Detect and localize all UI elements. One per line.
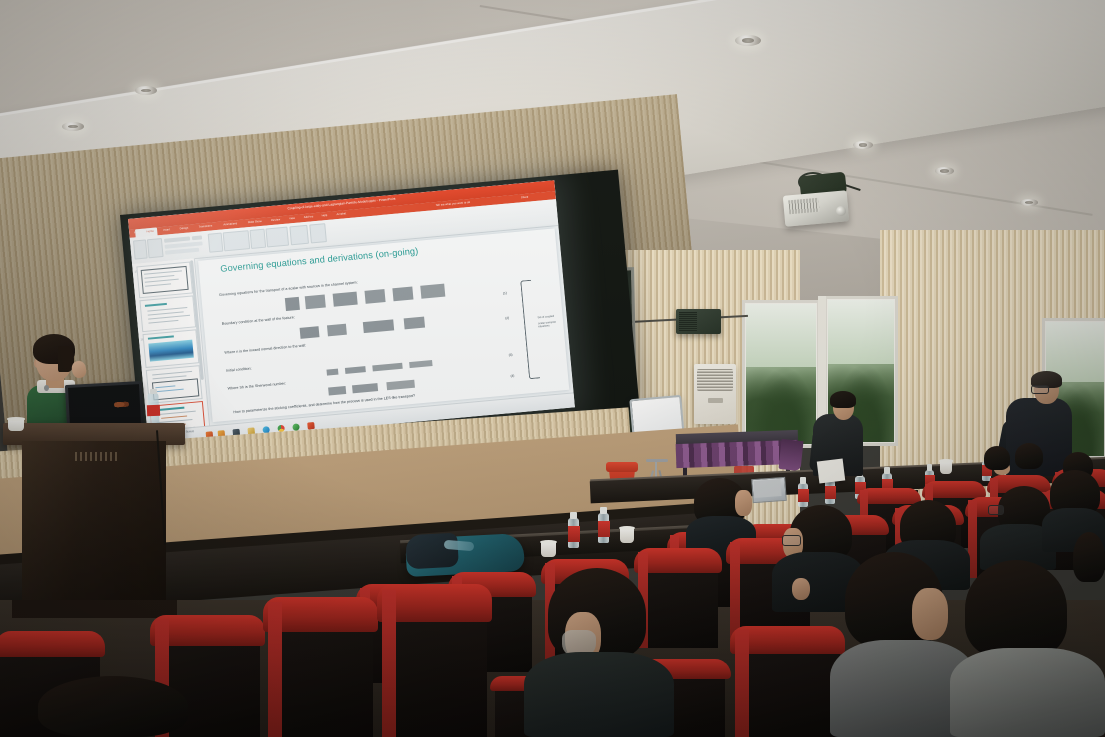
media-player-icon[interactable]	[292, 423, 300, 431]
projection-screen[interactable]: Coupling-of-large-eddy-and-Lagrangian-Pa…	[128, 180, 575, 446]
projector-lens-icon	[836, 206, 846, 216]
audience-head-foreground	[38, 676, 188, 737]
auditorium-seat	[638, 552, 718, 648]
tool-paste[interactable]	[133, 239, 148, 259]
paper-cup-rim	[7, 417, 25, 421]
air-conditioner-panel	[708, 398, 723, 403]
podium-shading	[22, 441, 166, 616]
paper-cup-rim	[939, 459, 953, 463]
tab-view[interactable]: View	[285, 216, 298, 223]
window-left	[742, 300, 820, 448]
audience-head	[1073, 532, 1105, 582]
tab-file[interactable]: File	[130, 230, 142, 237]
tool-arrange[interactable]	[250, 229, 267, 249]
podium-emblem	[75, 452, 120, 461]
bottle-cap	[150, 389, 157, 394]
slide-thumbnail[interactable]: 19	[142, 329, 199, 368]
red-stool-seat	[606, 462, 638, 472]
thumbnail-number: 17	[134, 270, 137, 273]
tab-help[interactable]: Help	[318, 213, 330, 220]
tool-align[interactable]	[208, 233, 224, 253]
microphone-head-icon	[44, 385, 49, 391]
ceiling-downlight	[135, 86, 157, 95]
ceiling-downlight	[853, 141, 873, 149]
audience-head	[984, 446, 1010, 470]
projector-vent	[788, 198, 819, 215]
slide-equation-number: (2)	[505, 315, 509, 319]
tool-font-size[interactable]	[192, 235, 202, 240]
table-cloth-drape	[778, 439, 803, 471]
audience-shoulders-foreground	[524, 652, 674, 737]
water-bottle	[798, 477, 808, 507]
slide-canvas[interactable]: Governing equations and derivations (on-…	[198, 228, 569, 422]
tool-paragraph-group[interactable]	[165, 248, 199, 255]
slide-grouping-brace	[520, 279, 541, 379]
audience-shoulders-foreground	[950, 648, 1105, 737]
audience-hand	[792, 578, 810, 600]
ceiling-downlight	[735, 35, 761, 46]
paper-cup-rim	[540, 540, 557, 544]
eyeglasses-icon	[782, 535, 801, 546]
water-bottle	[568, 512, 579, 548]
slide-equation-number: (3)	[508, 353, 512, 357]
powerpoint-window[interactable]: Coupling-of-large-eddy-and-Lagrangian-Pa…	[128, 180, 575, 446]
powerpoint-taskbar-icon[interactable]	[307, 421, 315, 429]
slide-equation-number: (4)	[510, 374, 514, 378]
ceiling-downlight	[935, 167, 954, 175]
presenter-laptop-bezel	[68, 384, 141, 427]
slide-body-line: Where Sh is the Sherwood number:	[227, 381, 286, 390]
eyeglasses-icon	[988, 505, 1004, 515]
paper-cup	[940, 461, 952, 474]
paper-cup	[620, 528, 634, 543]
backpack-dark-section	[405, 533, 459, 570]
lecture-hall-photo: Coupling-of-large-eddy-and-Lagrangian-Pa…	[0, 0, 1105, 737]
speaker-grille-icon	[679, 312, 697, 331]
eyeglasses-icon	[1031, 385, 1049, 394]
tool-styles[interactable]	[265, 227, 289, 248]
paper-cup	[541, 542, 556, 557]
tool-editing[interactable]	[289, 225, 309, 246]
podium-base	[12, 600, 177, 618]
slide-equation-4	[328, 378, 436, 396]
attendee-laptop-screen	[753, 479, 781, 498]
tool-shapes[interactable]	[223, 230, 251, 251]
bottle-label	[147, 405, 160, 416]
water-bottle	[598, 507, 609, 543]
audience-face	[912, 588, 948, 640]
held-papers	[817, 458, 845, 483]
standing-attendee-hair	[830, 391, 856, 408]
audience-face	[735, 490, 752, 516]
air-conditioner-vent-icon	[697, 369, 733, 391]
slide-equation-2	[294, 313, 466, 340]
ceiling-downlight	[62, 122, 84, 131]
auditorium-seat	[382, 590, 487, 737]
auditorium-seat	[268, 602, 373, 737]
audience-head	[1015, 443, 1043, 469]
slide-body-line: Initial condition:	[226, 367, 252, 373]
audience-head-foreground	[965, 560, 1067, 658]
slide-body-line: Where n is the inward normal direction t…	[224, 344, 306, 355]
slide-thumbnail[interactable]: 17	[136, 262, 193, 299]
auditorium-seat	[735, 630, 840, 737]
slide-equation-number: (1)	[503, 291, 507, 295]
tripod-head	[646, 459, 668, 462]
tool-newslide[interactable]	[147, 238, 164, 258]
slide-body-line: Boundary condition at the wall of the fe…	[222, 315, 295, 326]
ceiling-downlight	[1020, 199, 1038, 206]
brace-note-line-2: scalar transport equations	[538, 320, 564, 328]
slide-equation-3	[327, 359, 442, 376]
paper-cup-rim	[619, 526, 635, 530]
slide-thumbnail[interactable]: 18	[139, 295, 196, 332]
tool-designer[interactable]	[309, 223, 327, 243]
brace-note-line-1: Set of coupled	[537, 315, 554, 319]
